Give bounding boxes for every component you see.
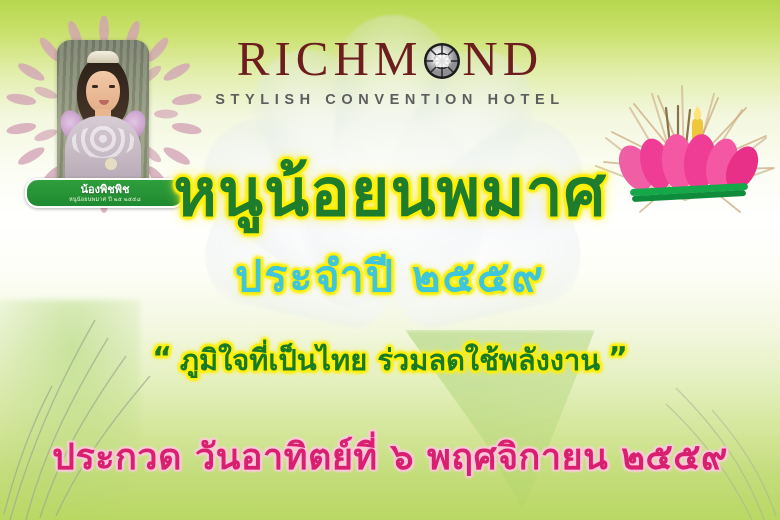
- poster-canvas: RICHMND STYLISH CONVENTION HOTEL: [0, 0, 780, 520]
- event-date-line: ประกวด วันอาทิตย์ที่ ๖ พฤศจิกายน ๒๕๕๙: [0, 440, 780, 476]
- slogan-line: “ภูมิใจที่เป็นไทย ร่วมลดใช้พลังงาน”: [0, 344, 780, 375]
- background-leaf-glow: [0, 300, 140, 520]
- brand-wordmark: RICHMND: [237, 34, 543, 83]
- brand-text-after: ND: [462, 31, 543, 86]
- year-subtitle: ประจำปี ๒๕๕๙: [0, 256, 780, 299]
- tiara-icon: [87, 51, 119, 63]
- page-title: หนูน้อยนพมาศ: [0, 160, 780, 226]
- diamond-gem-icon: [423, 39, 461, 77]
- quote-close: ”: [608, 344, 628, 374]
- brand-text-before: RICHM: [237, 31, 423, 86]
- quote-open: “: [152, 344, 172, 374]
- grass-decoration-left: [0, 300, 230, 520]
- slogan-text: ภูมิใจที่เป็นไทย ร่วมลดใช้พลังงาน: [180, 343, 600, 377]
